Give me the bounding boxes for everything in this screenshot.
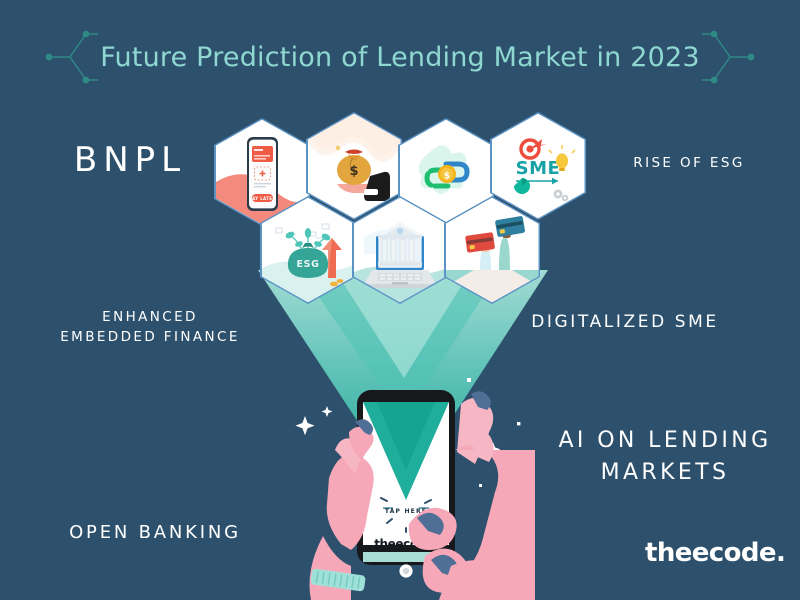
- hands-holding-phone-icon: TAP HERE theecode.: [265, 360, 535, 600]
- label-digitalized-sme: DIGITALIZED SME: [505, 310, 745, 335]
- label-line-1: AI ON LENDING: [540, 425, 790, 457]
- svg-text:ESG: ESG: [296, 259, 319, 270]
- label-ai-on-lending-markets: AI ON LENDING MARKETS: [540, 425, 790, 489]
- label-line-2: EMBEDDED FINANCE: [45, 328, 255, 348]
- page-title: Future Prediction of Lending Market in 2…: [100, 42, 700, 73]
- label-rise-of-esg: RISE OF ESG: [594, 154, 784, 174]
- svg-text:SME: SME: [515, 158, 560, 179]
- label-enhanced-embedded-finance: ENHANCED EMBEDDED FINANCE: [45, 308, 255, 347]
- svg-text:$: $: [443, 171, 449, 181]
- left-hand: [310, 419, 374, 600]
- svg-text:PAY LATER: PAY LATER: [249, 195, 276, 200]
- circuit-bracket-left-icon: [30, 28, 100, 86]
- infographic-canvas: Future Prediction of Lending Market in 2…: [0, 0, 800, 600]
- svg-text:$: $: [349, 164, 358, 179]
- hexagon-cluster: PAY LATER $: [212, 112, 592, 308]
- title-bar: Future Prediction of Lending Market in 2…: [0, 28, 800, 86]
- brand-logo-dot: .: [776, 538, 785, 568]
- label-line-1: ENHANCED: [45, 308, 255, 328]
- label-open-banking: OPEN BANKING: [30, 520, 280, 546]
- label-bnpl: BNPL: [40, 136, 220, 185]
- brand-logo-text: theecode: [645, 538, 776, 568]
- circuit-bracket-right-icon: [700, 28, 770, 86]
- label-line-2: MARKETS: [540, 457, 790, 489]
- brand-logo: theecode.: [645, 538, 785, 568]
